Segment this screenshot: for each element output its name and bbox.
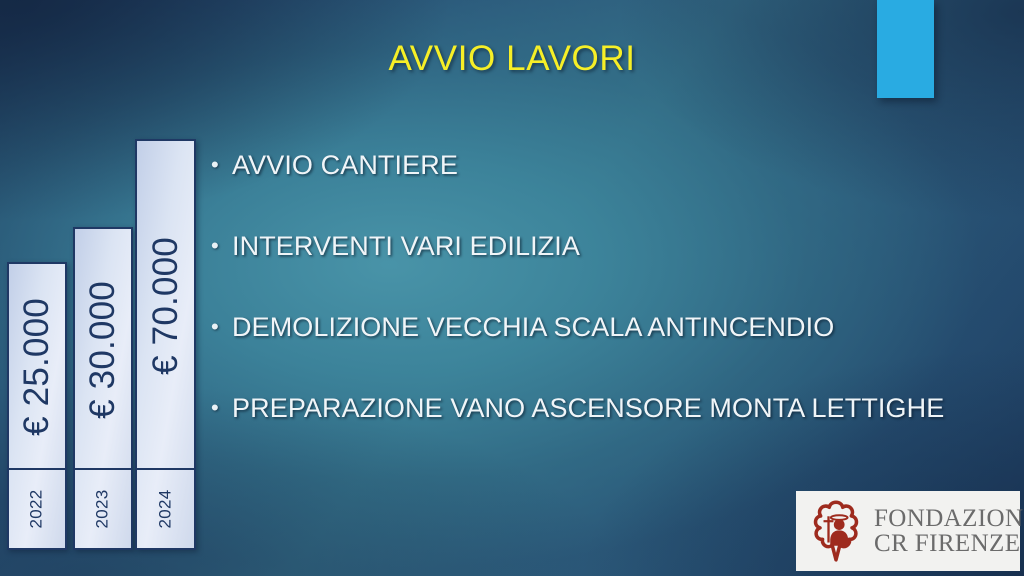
bar-value-label: € 30.000 <box>83 281 123 419</box>
logo-line-2: CR FIRENZE <box>874 531 1024 557</box>
list-item: • PREPARAZIONE VANO ASCENSORE MONTA LETT… <box>211 391 1017 472</box>
fondazione-cr-firenze-logo: FONDAZIONE CR FIRENZE <box>796 491 1020 571</box>
accent-rectangle <box>877 0 934 98</box>
list-item: • INTERVENTI VARI EDILIZIA <box>211 229 1017 310</box>
bar-category-label-wrap: 2022 <box>9 470 65 548</box>
bar-value-label-wrap: € 30.000 <box>75 229 131 470</box>
bullet-text: AVVIO CANTIERE <box>232 148 458 182</box>
list-item: • AVVIO CANTIERE <box>211 148 1017 229</box>
bullet-text: DEMOLIZIONE VECCHIA SCALA ANTINCENDIO <box>232 310 834 344</box>
funding-bar-chart: € 25.000 2022 € 30.000 2023 € 70.000 202… <box>0 0 210 576</box>
presentation-slide: AVVIO LAVORI • AVVIO CANTIERE • INTERVEN… <box>0 0 1024 576</box>
fondazione-emblem-icon <box>804 499 868 563</box>
slide-title: AVVIO LAVORI <box>232 41 792 78</box>
bullet-marker-icon: • <box>211 148 232 182</box>
bullet-marker-icon: • <box>211 229 232 263</box>
bar-value-label: € 70.000 <box>146 237 186 375</box>
bar-category-label: 2024 <box>156 489 176 528</box>
logo-wordmark: FONDAZIONE CR FIRENZE <box>874 506 1024 557</box>
bar-category-label-wrap: 2023 <box>75 470 131 548</box>
bullet-text: INTERVENTI VARI EDILIZIA <box>232 229 580 263</box>
logo-line-1: FONDAZIONE <box>874 506 1024 532</box>
bullet-marker-icon: • <box>211 391 232 425</box>
bar-category-label: 2023 <box>93 489 113 528</box>
chart-bar: € 25.000 2022 <box>7 262 67 550</box>
bar-category-label: 2022 <box>27 489 47 528</box>
bullet-text: PREPARAZIONE VANO ASCENSORE MONTA LETTIG… <box>232 391 944 425</box>
bar-category-label-wrap: 2024 <box>137 470 194 548</box>
chart-bar: € 30.000 2023 <box>73 227 133 550</box>
chart-bar: € 70.000 2024 <box>135 139 196 550</box>
list-item: • DEMOLIZIONE VECCHIA SCALA ANTINCENDIO <box>211 310 1017 391</box>
bar-value-label: € 25.000 <box>17 298 57 436</box>
bullet-marker-icon: • <box>211 310 232 344</box>
bar-value-label-wrap: € 25.000 <box>9 264 65 470</box>
bullet-list: • AVVIO CANTIERE • INTERVENTI VARI EDILI… <box>211 148 1017 472</box>
bar-value-label-wrap: € 70.000 <box>137 141 194 470</box>
